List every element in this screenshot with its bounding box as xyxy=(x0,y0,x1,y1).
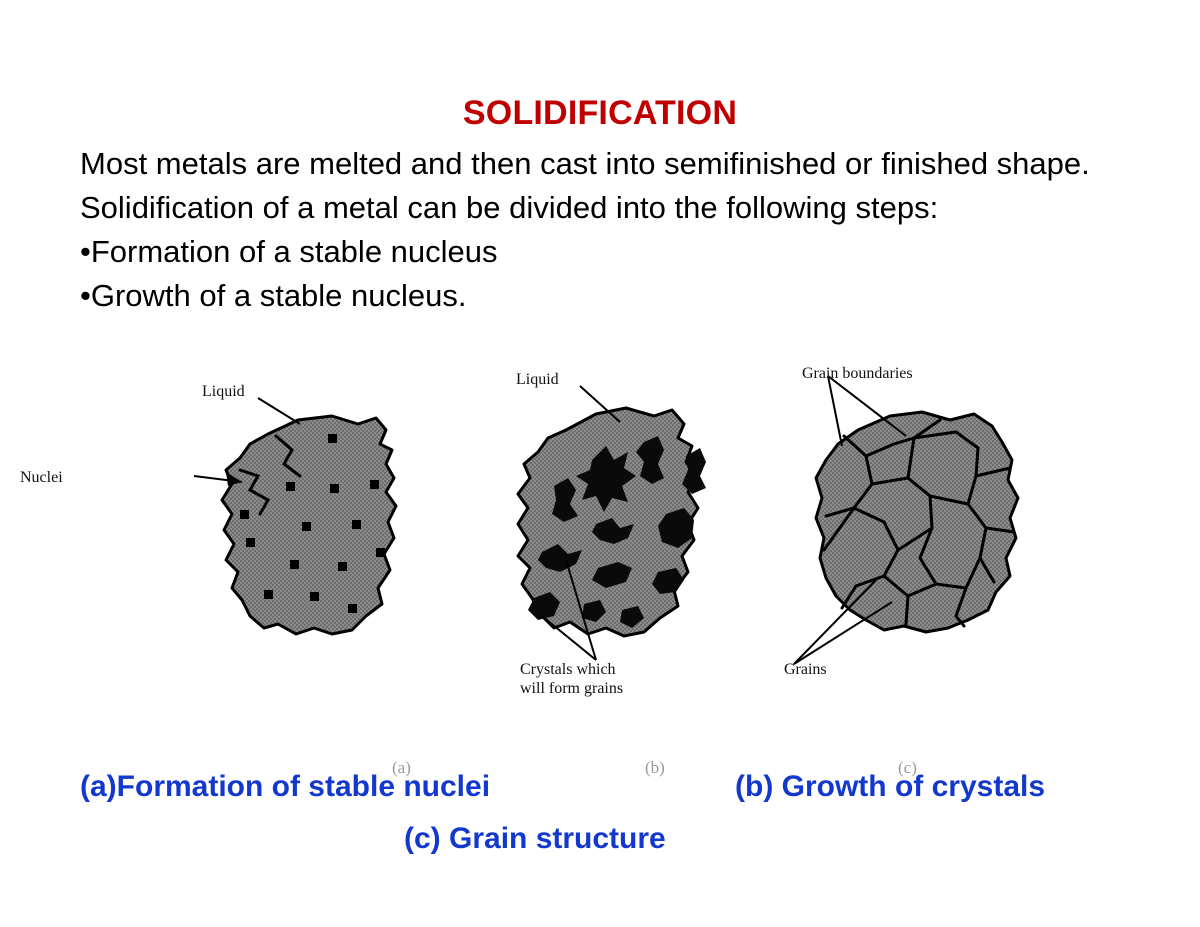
figure-marker-b: (b) xyxy=(645,758,665,778)
body-text-block: Most metals are melted and then cast int… xyxy=(80,142,1090,318)
caption-b-growth-of-crystals: (b) Growth of crystals xyxy=(735,770,1045,804)
caption-a-formation-of-stable-nuclei: (a)Formation of stable nuclei xyxy=(80,770,490,804)
body-bullet-1: •Formation of a stable nucleus xyxy=(80,230,1090,274)
slide-canvas: SOLIDIFICATION Most metals are melted an… xyxy=(0,0,1200,927)
body-bullet-2: •Growth of a stable nucleus. xyxy=(80,274,1090,318)
body-paragraph-2: Solidification of a metal can be divided… xyxy=(80,186,1090,230)
panel-b-label-liquid: Liquid xyxy=(516,370,559,389)
figure-panel-b-crystals: Liquid Crystals which will form grains xyxy=(480,372,780,712)
body-paragraph-1: Most metals are melted and then cast int… xyxy=(80,142,1090,186)
panel-a-liquid-leader xyxy=(258,398,300,424)
panel-a-drawing xyxy=(180,372,480,712)
panel-c-label-grain-boundaries: Grain boundaries xyxy=(802,364,913,383)
panel-b-label-crystals-line1: Crystals which xyxy=(520,660,616,679)
panel-c-label-grains: Grains xyxy=(784,660,827,679)
figure-panel-c-grains: Grain boundaries Grains xyxy=(780,372,1080,712)
panel-a-label-liquid: Liquid xyxy=(202,382,245,401)
solidification-figure: Liquid Nuclei xyxy=(180,372,1080,712)
caption-c-grain-structure: (c) Grain structure xyxy=(404,822,666,856)
page-title: SOLIDIFICATION xyxy=(0,96,1200,130)
panel-b-label-crystals-line2: will form grains xyxy=(520,679,623,698)
figure-panel-a-nuclei: Liquid Nuclei xyxy=(180,372,480,712)
panel-c-gb-leader-1 xyxy=(828,376,842,446)
panel-a-label-nuclei: Nuclei xyxy=(20,468,63,487)
panel-c-grains-leader-2 xyxy=(794,602,892,664)
